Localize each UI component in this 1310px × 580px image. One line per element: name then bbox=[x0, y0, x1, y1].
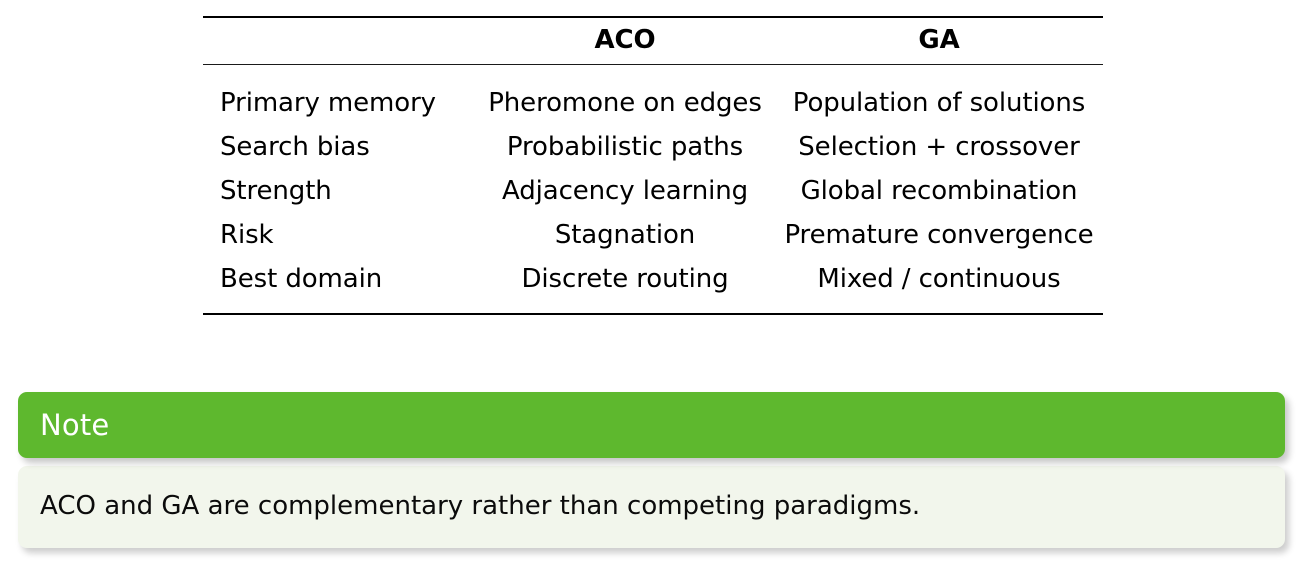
note-callout-title: Note bbox=[18, 392, 1285, 458]
table-row: Risk Stagnation Premature convergence bbox=[203, 213, 1103, 257]
cell-ga: Mixed / continuous bbox=[775, 257, 1103, 314]
table-header: ACO GA bbox=[203, 17, 1103, 65]
column-header-ga: GA bbox=[775, 17, 1103, 65]
table-row: Primary memory Pheromone on edges Popula… bbox=[203, 65, 1103, 126]
cell-aco: Adjacency learning bbox=[475, 169, 775, 213]
comparison-table: ACO GA Primary memory Pheromone on edges… bbox=[203, 16, 1103, 315]
cell-aco: Probabilistic paths bbox=[475, 125, 775, 169]
row-label: Best domain bbox=[203, 257, 475, 314]
table-row: Search bias Probabilistic paths Selectio… bbox=[203, 125, 1103, 169]
note-callout: Note ACO and GA are complementary rather… bbox=[18, 392, 1285, 548]
cell-ga: Population of solutions bbox=[775, 65, 1103, 126]
aco-ga-comparison-table: ACO GA Primary memory Pheromone on edges… bbox=[203, 16, 1103, 315]
column-header-blank bbox=[203, 17, 475, 65]
column-header-aco: ACO bbox=[475, 17, 775, 65]
cell-aco: Pheromone on edges bbox=[475, 65, 775, 126]
table-row: Best domain Discrete routing Mixed / con… bbox=[203, 257, 1103, 314]
table-body: Primary memory Pheromone on edges Popula… bbox=[203, 65, 1103, 315]
row-label: Primary memory bbox=[203, 65, 475, 126]
cell-aco: Stagnation bbox=[475, 213, 775, 257]
cell-ga: Selection + crossover bbox=[775, 125, 1103, 169]
cell-aco: Discrete routing bbox=[475, 257, 775, 314]
note-callout-body: ACO and GA are complementary rather than… bbox=[18, 466, 1285, 548]
cell-ga: Premature convergence bbox=[775, 213, 1103, 257]
row-label: Search bias bbox=[203, 125, 475, 169]
cell-ga: Global recombination bbox=[775, 169, 1103, 213]
table-row: Strength Adjacency learning Global recom… bbox=[203, 169, 1103, 213]
table-header-row: ACO GA bbox=[203, 17, 1103, 65]
row-label: Risk bbox=[203, 213, 475, 257]
row-label: Strength bbox=[203, 169, 475, 213]
